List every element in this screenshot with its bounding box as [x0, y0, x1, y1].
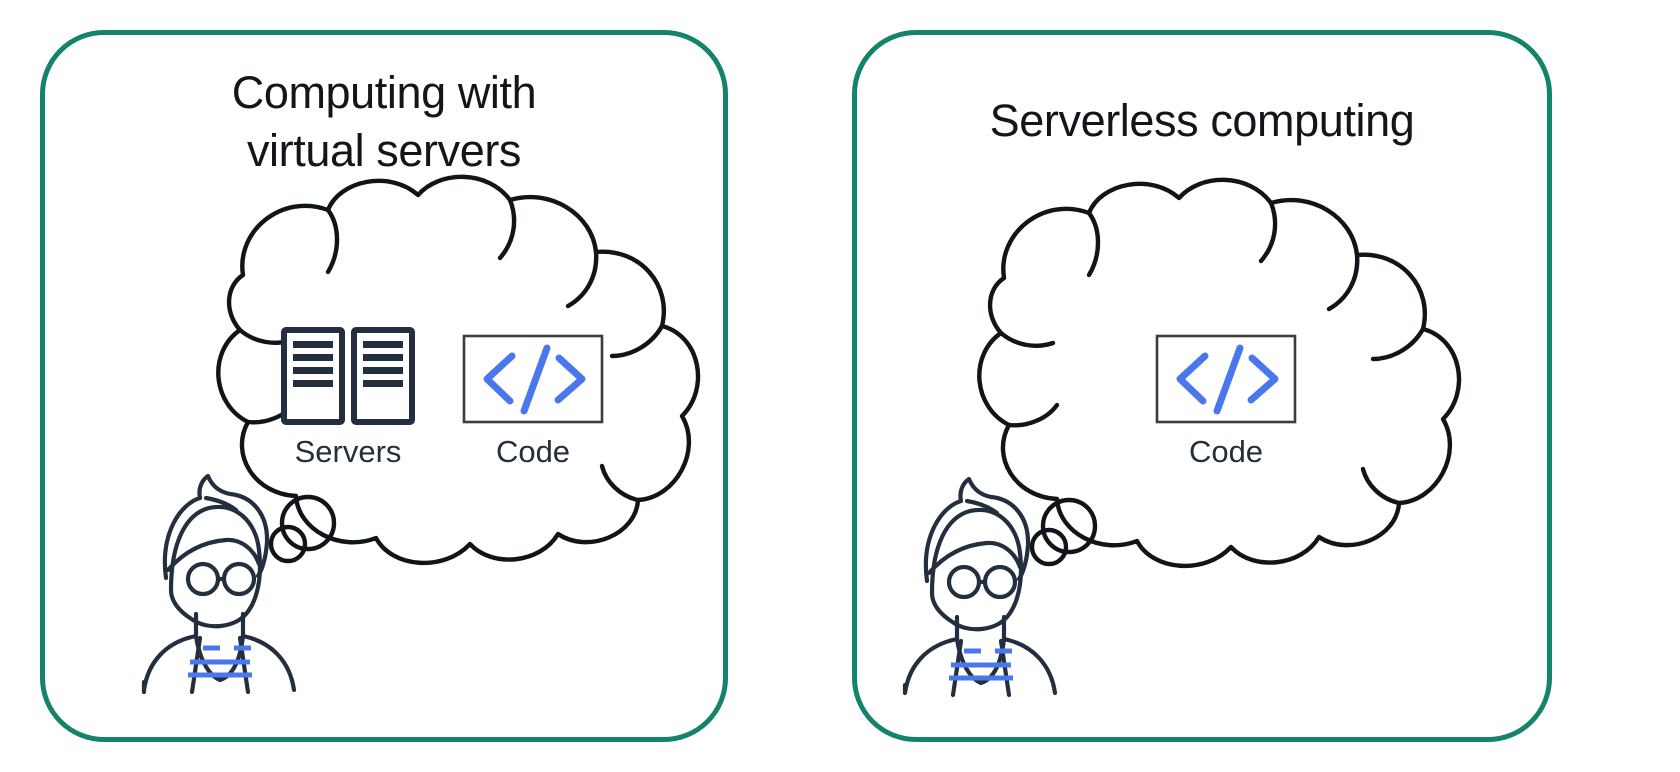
code-label: Code	[1189, 434, 1263, 469]
servers-label: Servers	[295, 434, 402, 469]
thought-bubble-tail-icon	[1032, 500, 1095, 564]
panel-serverless: Serverless computing	[852, 30, 1552, 742]
servers-icon	[284, 330, 412, 422]
thought-bubble-tail-icon	[271, 497, 334, 561]
diagram-canvas: Computing with virtual servers	[0, 0, 1680, 772]
panel-virtual-servers: Computing with virtual servers	[40, 30, 728, 742]
code-label: Code	[496, 434, 570, 469]
code-icon	[464, 336, 602, 422]
code-icon	[1157, 336, 1295, 422]
panel-illustration: Servers Code	[40, 30, 728, 742]
panel-illustration: Code	[852, 30, 1552, 742]
